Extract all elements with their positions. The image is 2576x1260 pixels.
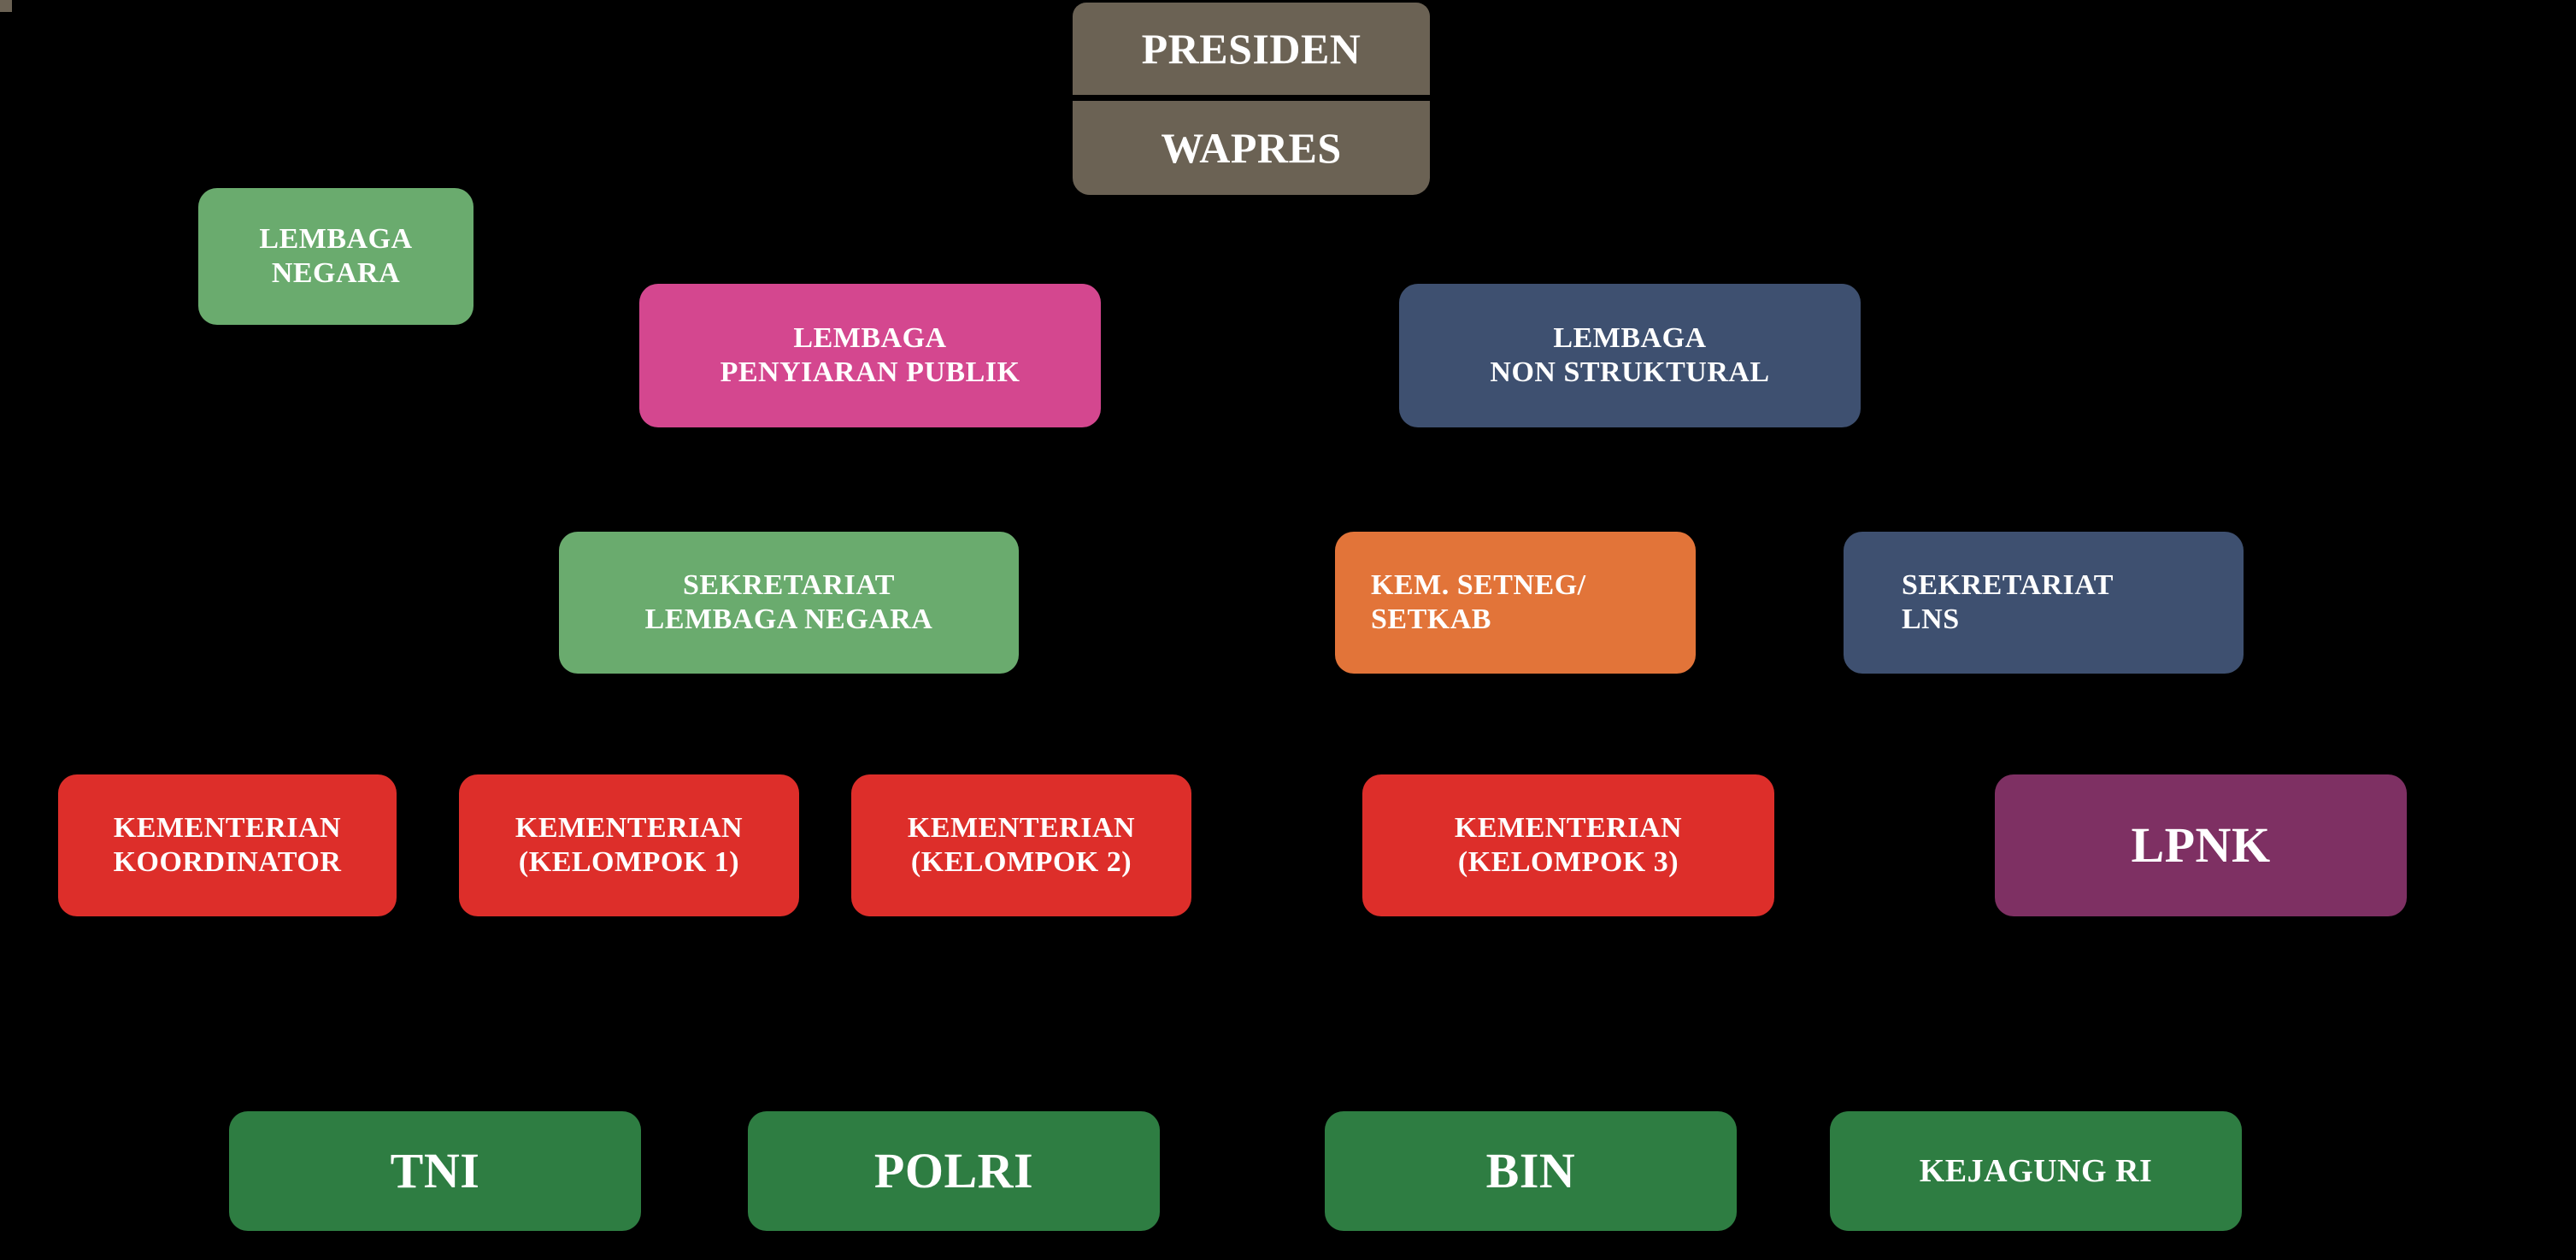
node-presiden-line-1: PRESIDEN: [1142, 24, 1362, 74]
node-kementerian-koordinator-line-1: KEMENTERIAN: [114, 811, 341, 845]
node-kementerian-kelompok-2[interactable]: KEMENTERIAN (KELOMPOK 2): [851, 774, 1191, 916]
node-bin-line-1: BIN: [1486, 1142, 1576, 1200]
node-kejagung-ri[interactable]: KEJAGUNG RI: [1830, 1111, 2242, 1231]
node-kem-setneg-setkab[interactable]: KEM. SETNEG/ SETKAB: [1335, 532, 1696, 674]
node-polri[interactable]: POLRI: [748, 1111, 1160, 1231]
node-lembaga-penyiaran-publik-line-2: PENYIARAN PUBLIK: [720, 356, 1020, 390]
org-chart-canvas: PRESIDEN WAPRES LEMBAGA NEGARA LEMBAGA P…: [0, 0, 2576, 1260]
node-lembaga-negara-line-2: NEGARA: [272, 256, 400, 291]
node-kementerian-koordinator-line-2: KOORDINATOR: [114, 845, 342, 880]
node-lpnk[interactable]: LPNK: [1995, 774, 2407, 916]
node-kementerian-kelompok-2-line-2: (KELOMPOK 2): [911, 845, 1132, 880]
node-tni-line-1: TNI: [391, 1142, 480, 1200]
connector-stub-wapres: [0, 0, 12, 12]
node-lembaga-penyiaran-publik[interactable]: LEMBAGA PENYIARAN PUBLIK: [639, 284, 1101, 427]
node-wapres-line-1: WAPRES: [1161, 123, 1341, 174]
node-kementerian-kelompok-3[interactable]: KEMENTERIAN (KELOMPOK 3): [1362, 774, 1774, 916]
node-sekretariat-lembaga-negara-line-1: SEKRETARIAT: [683, 568, 895, 603]
node-sekretariat-lembaga-negara[interactable]: SEKRETARIAT LEMBAGA NEGARA: [559, 532, 1019, 674]
node-kem-setneg-setkab-line-1: KEM. SETNEG/: [1371, 568, 1586, 603]
node-presiden[interactable]: PRESIDEN: [1073, 3, 1430, 95]
node-kementerian-koordinator[interactable]: KEMENTERIAN KOORDINATOR: [58, 774, 397, 916]
node-lembaga-penyiaran-publik-line-1: LEMBAGA: [793, 321, 946, 356]
node-lembaga-non-struktural-line-1: LEMBAGA: [1553, 321, 1706, 356]
node-kementerian-kelompok-3-line-2: (KELOMPOK 3): [1458, 845, 1679, 880]
node-kementerian-kelompok-1-line-2: (KELOMPOK 1): [519, 845, 739, 880]
node-lpnk-line-1: LPNK: [2131, 816, 2270, 874]
node-lembaga-non-struktural[interactable]: LEMBAGA NON STRUKTURAL: [1399, 284, 1861, 427]
node-tni[interactable]: TNI: [229, 1111, 641, 1231]
node-polri-line-1: POLRI: [874, 1142, 1033, 1200]
node-sekretariat-lembaga-negara-line-2: LEMBAGA NEGARA: [645, 603, 933, 637]
node-sekretariat-lns[interactable]: SEKRETARIAT LNS: [1844, 532, 2244, 674]
node-kementerian-kelompok-1[interactable]: KEMENTERIAN (KELOMPOK 1): [459, 774, 799, 916]
node-lembaga-negara[interactable]: LEMBAGA NEGARA: [198, 188, 473, 325]
node-sekretariat-lns-line-1: SEKRETARIAT: [1902, 568, 2114, 603]
node-kementerian-kelompok-1-line-1: KEMENTERIAN: [515, 811, 743, 845]
node-lembaga-non-struktural-line-2: NON STRUKTURAL: [1490, 356, 1769, 390]
node-kementerian-kelompok-2-line-1: KEMENTERIAN: [908, 811, 1135, 845]
node-kementerian-kelompok-3-line-1: KEMENTERIAN: [1455, 811, 1682, 845]
node-sekretariat-lns-line-2: LNS: [1902, 603, 1960, 637]
node-kejagung-ri-line-1: KEJAGUNG RI: [1920, 1152, 2153, 1191]
node-bin[interactable]: BIN: [1325, 1111, 1737, 1231]
node-wapres[interactable]: WAPRES: [1073, 101, 1430, 195]
node-lembaga-negara-line-1: LEMBAGA: [259, 222, 412, 256]
node-kem-setneg-setkab-line-2: SETKAB: [1371, 603, 1491, 637]
